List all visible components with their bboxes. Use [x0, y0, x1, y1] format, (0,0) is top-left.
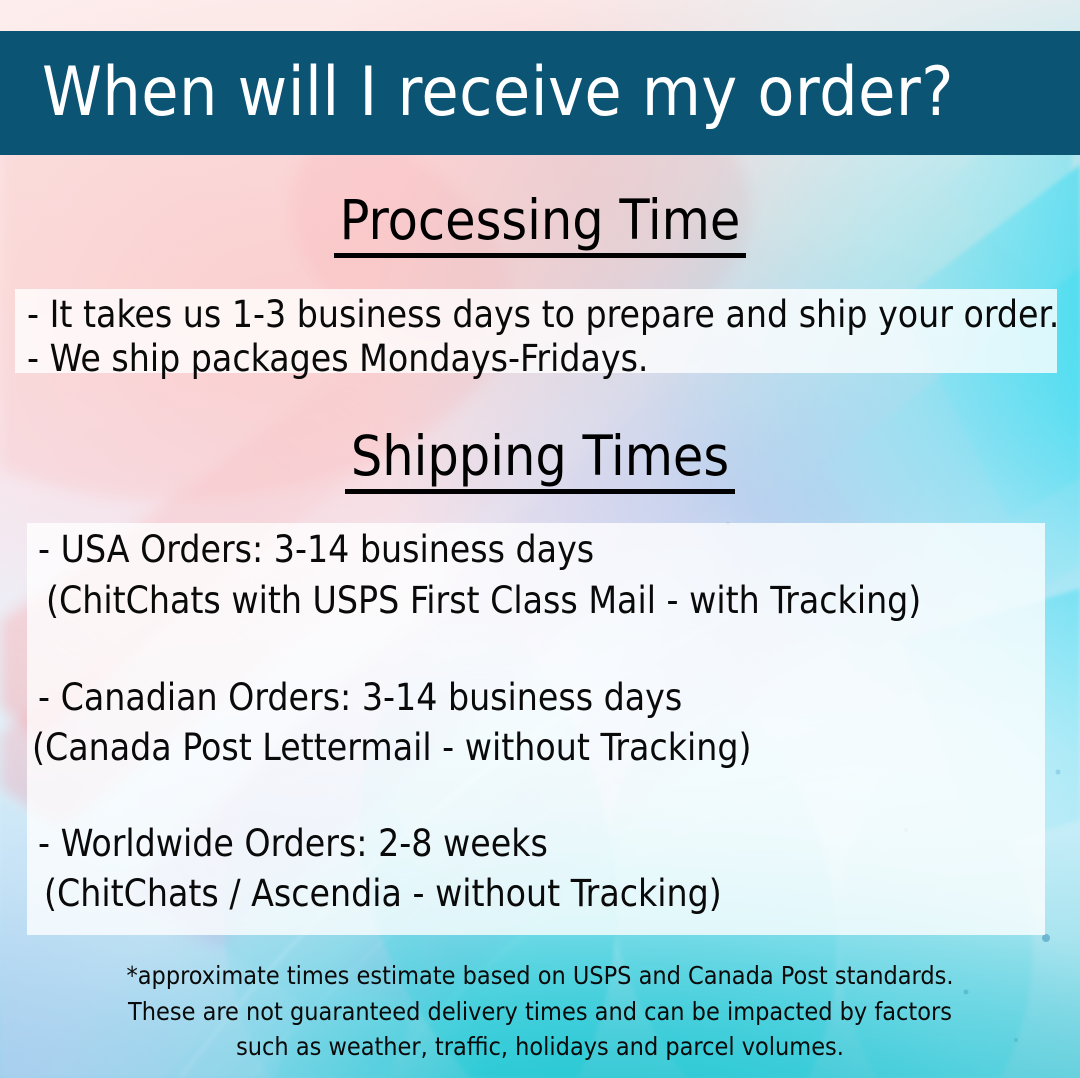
disclaimer-line-2: These are not guaranteed delivery times …: [0, 994, 1080, 1030]
shipping-block-usa-carrier: (ChitChats with USPS First Class Mail - …: [46, 578, 921, 624]
shipping-block-canada-carrier: (Canada Post Lettermail - without Tracki…: [32, 725, 751, 771]
shipping-block-worldwide-carrier: (ChitChats / Ascendia - without Tracking…: [44, 871, 722, 917]
disclaimer-line-3: such as weather, traffic, holidays and p…: [0, 1029, 1080, 1065]
processing-time-line-2: - We ship packages Mondays-Fridays.: [27, 336, 648, 382]
shipping-times-heading: Shipping Times: [0, 428, 1080, 494]
shipping-block-canada-region: - Canadian Orders: 3-14 business days: [38, 675, 682, 721]
shipping-block-worldwide-region: - Worldwide Orders: 2-8 weeks: [38, 821, 548, 867]
shipping-block-usa-region: - USA Orders: 3-14 business days: [38, 527, 594, 573]
header-bar: When will I receive my order?: [0, 31, 1080, 155]
shipping-times-heading-label: Shipping Times: [345, 428, 735, 494]
processing-time-heading: Processing Time: [0, 192, 1080, 258]
shipping-policy-poster: When will I receive my order? Processing…: [0, 0, 1080, 1078]
processing-time-heading-label: Processing Time: [334, 192, 747, 258]
processing-time-line-1: - It takes us 1-3 business days to prepa…: [27, 292, 1059, 338]
disclaimer-footnote: *approximate times estimate based on USP…: [0, 958, 1080, 1065]
disclaimer-line-1: *approximate times estimate based on USP…: [0, 958, 1080, 994]
page-title: When will I receive my order?: [42, 59, 954, 127]
